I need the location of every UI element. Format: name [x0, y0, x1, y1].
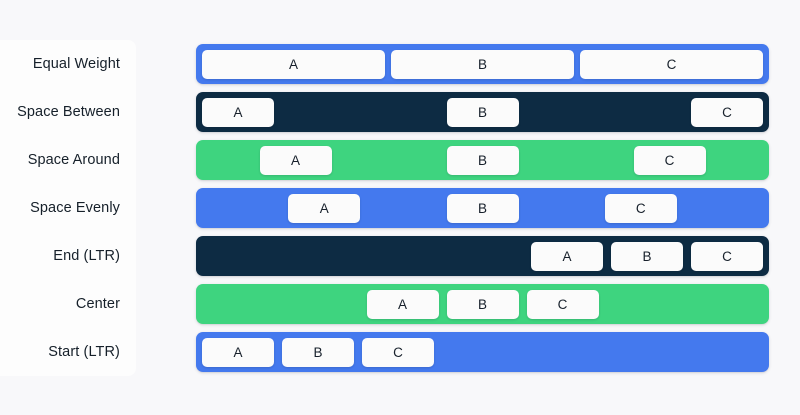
alignment-row: ABC [196, 40, 769, 88]
flex-item[interactable]: A [367, 290, 439, 319]
alignment-bar-around[interactable]: ABC [196, 140, 769, 180]
alignment-row: ABC [196, 136, 769, 184]
flex-item[interactable]: B [447, 290, 519, 319]
alignment-bar-start[interactable]: ABC [196, 332, 769, 372]
row-label: Space Evenly [0, 184, 136, 232]
flex-item[interactable]: C [634, 146, 706, 175]
row-label: Center [0, 280, 136, 328]
alignment-row: ABC [196, 88, 769, 136]
flex-alignment-demo: Equal WeightSpace BetweenSpace AroundSpa… [0, 0, 800, 415]
flex-item[interactable]: C [691, 98, 763, 127]
alignment-bar-equal[interactable]: ABC [196, 44, 769, 84]
flex-item[interactable]: A [202, 50, 385, 79]
flex-item[interactable]: A [288, 194, 360, 223]
flex-item[interactable]: C [362, 338, 434, 367]
alignment-row: ABC [196, 232, 769, 280]
alignment-row: ABC [196, 280, 769, 328]
row-label: Space Around [0, 136, 136, 184]
flex-item[interactable]: B [447, 194, 519, 223]
flex-item[interactable]: C [580, 50, 763, 79]
flex-item[interactable]: A [202, 338, 274, 367]
alignment-bar-between[interactable]: ABC [196, 92, 769, 132]
flex-item[interactable]: B [447, 98, 519, 127]
alignment-bar-evenly[interactable]: ABC [196, 188, 769, 228]
alignment-bar-end[interactable]: ABC [196, 236, 769, 276]
flex-item[interactable]: B [391, 50, 574, 79]
flex-item[interactable]: A [531, 242, 603, 271]
flex-item[interactable]: C [691, 242, 763, 271]
alignment-rows-panel: ABCABCABCABCABCABCABC [196, 40, 769, 376]
alignment-row: ABC [196, 328, 769, 376]
flex-item[interactable]: B [282, 338, 354, 367]
flex-item[interactable]: A [202, 98, 274, 127]
alignment-bar-center[interactable]: ABC [196, 284, 769, 324]
flex-item[interactable]: C [527, 290, 599, 319]
row-label: Equal Weight [0, 40, 136, 88]
row-label: Start (LTR) [0, 328, 136, 376]
flex-item[interactable]: B [611, 242, 683, 271]
row-label-panel: Equal WeightSpace BetweenSpace AroundSpa… [0, 40, 136, 376]
flex-item[interactable]: A [260, 146, 332, 175]
alignment-row: ABC [196, 184, 769, 232]
flex-item[interactable]: C [605, 194, 677, 223]
row-label: Space Between [0, 88, 136, 136]
flex-item[interactable]: B [447, 146, 519, 175]
row-label: End (LTR) [0, 232, 136, 280]
